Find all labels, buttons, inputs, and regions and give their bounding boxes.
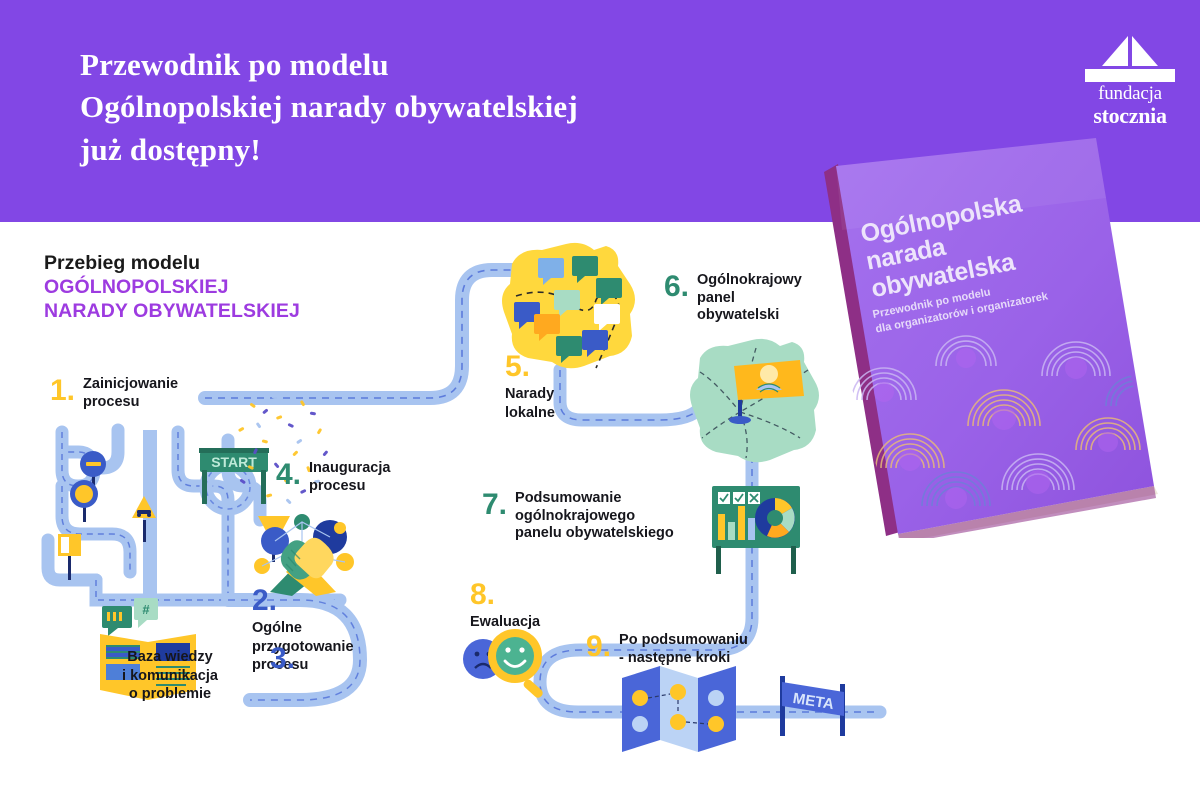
logo-text: fundacja stocznia	[1078, 84, 1182, 127]
step-3-label: Baza wiedzyi komunikacjao problemie	[122, 649, 218, 702]
road-signs-icon	[58, 451, 290, 580]
step-7[interactable]: 7. Podsumowanieogólnokrajowegopanelu oby…	[482, 490, 674, 543]
headline-line-2: Ogólnopolskiej narady obywatelskiej	[80, 86, 780, 128]
step-1-label: Zainicjowanieprocesu	[83, 376, 178, 411]
step-8[interactable]: 8. Ewaluacja	[470, 580, 540, 632]
step-6-label: Ogólnokrajowypanelobywatelski	[697, 272, 802, 325]
step-6-number: 6.	[664, 272, 689, 302]
page-title: Przewodnik po modelu Ogólnopolskiej nara…	[80, 44, 780, 171]
infographic-page: Przewodnik po modelu Ogólnopolskiej nara…	[0, 0, 1200, 800]
section-title: Przebieg modelu OGÓLNOPOLSKIEJ NARADY OB…	[44, 252, 384, 323]
step-3[interactable]: 3. Baza wiedzyi komunikacjao problemie	[100, 648, 240, 704]
step-9-label: Po podsumowaniu- następne kroki	[619, 632, 748, 667]
poland-map-pin-icon	[690, 339, 819, 462]
presentation-board-charts-icon	[712, 486, 800, 574]
fundacja-stocznia-logo[interactable]: fundacja stocznia	[1078, 36, 1182, 128]
step-8-label: Ewaluacja	[470, 614, 540, 630]
start-gate-label: START	[211, 454, 257, 470]
headline-line-3: już dostępny!	[80, 129, 780, 171]
step-9-number: 9.	[586, 632, 611, 662]
step-8-number: 8.	[470, 580, 540, 610]
step-4[interactable]: 4. Inauguracjaprocesu	[276, 460, 390, 495]
step-7-label: Podsumowanieogólnokrajowegopanelu obywat…	[515, 490, 674, 543]
step-5-label: Naradylokalne	[505, 386, 555, 421]
section-title-line-1: Przebieg modelu	[44, 252, 384, 276]
magnifier-smiley-icon	[463, 629, 544, 699]
step-7-number: 7.	[482, 490, 507, 520]
step-9[interactable]: 9. Po podsumowaniu- następne kroki	[586, 632, 748, 667]
shipyard-crane-icon	[1078, 36, 1182, 78]
step-4-number: 4.	[276, 460, 301, 490]
svg-text:#: #	[142, 602, 150, 617]
section-title-line-2: OGÓLNOPOLSKIEJ	[44, 276, 384, 300]
step-2-label: Ogólneprzygotowanieprocesu	[252, 620, 354, 673]
finish-banner-label: META	[792, 690, 836, 713]
step-4-label: Inauguracjaprocesu	[309, 460, 390, 495]
folded-map-icon	[622, 666, 736, 752]
step-3-number: 3.	[270, 644, 295, 674]
section-title-line-3: NARADY OBYWATELSKIEJ	[44, 300, 384, 324]
step-2-number: 2.	[252, 586, 382, 616]
logo-line-1: fundacja	[1078, 84, 1182, 103]
step-5-number: 5.	[505, 352, 555, 382]
finish-banner-icon: META	[780, 676, 845, 736]
logo-line-2: stocznia	[1078, 105, 1182, 127]
start-gate-icon: START	[199, 448, 269, 504]
headline-line-1: Przewodnik po modelu	[80, 44, 780, 86]
process-road-path	[48, 270, 880, 712]
step-1-number: 1.	[50, 376, 75, 406]
step-5[interactable]: 5. Naradylokalne	[505, 352, 555, 422]
step-6[interactable]: 6. Ogólnokrajowypanelobywatelski	[664, 272, 802, 325]
book-mockup[interactable]: Ogólnopolska narada obywatelska Przewodn…	[806, 138, 1166, 538]
step-1[interactable]: 1. Zainicjowanieprocesu	[50, 376, 178, 411]
